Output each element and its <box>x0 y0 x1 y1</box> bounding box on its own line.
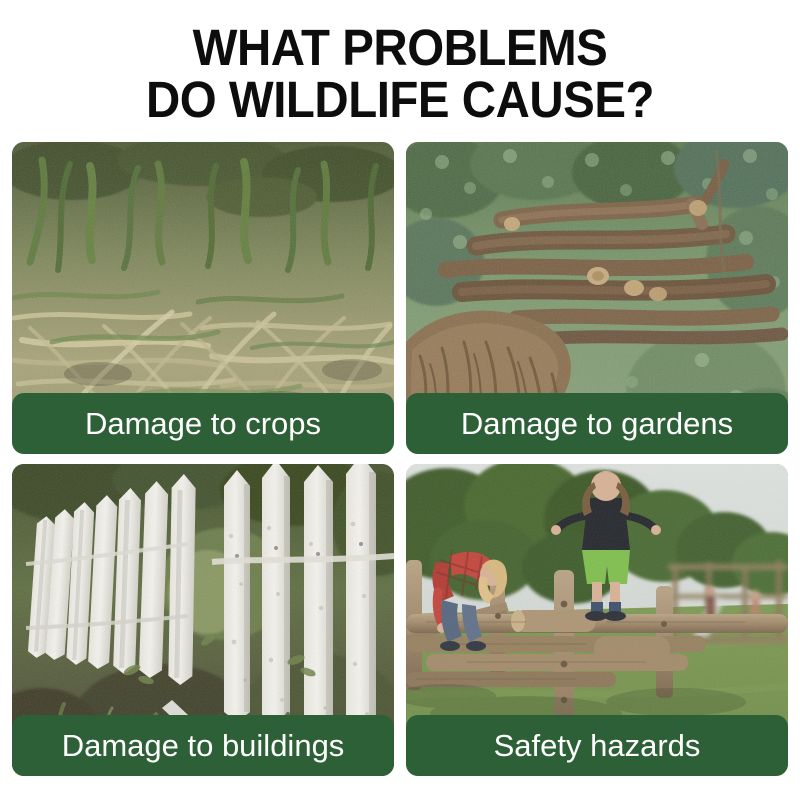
caption-label-gardens: Damage to gardens <box>461 408 733 439</box>
caption-bar-safety: Safety hazards <box>406 715 788 776</box>
caption-label-crops: Damage to crops <box>85 408 321 439</box>
panel-gardens[interactable]: Damage to gardens <box>406 142 788 454</box>
caption-label-safety: Safety hazards <box>494 730 701 761</box>
caption-bar-gardens: Damage to gardens <box>406 393 788 454</box>
panel-safety[interactable]: Safety hazards <box>406 464 788 776</box>
caption-label-buildings: Damage to buildings <box>62 730 345 761</box>
infographic-page: WHAT PROBLEMS DO WILDLIFE CAUSE? <box>0 0 800 800</box>
caption-bar-buildings: Damage to buildings <box>12 715 394 776</box>
problem-panel-grid: Damage to crops <box>12 142 788 776</box>
page-title: WHAT PROBLEMS DO WILDLIFE CAUSE? <box>0 22 800 126</box>
page-title-line-1: WHAT PROBLEMS <box>28 22 772 74</box>
page-title-line-2: DO WILDLIFE CAUSE? <box>28 74 772 126</box>
caption-bar-crops: Damage to crops <box>12 393 394 454</box>
panel-crops[interactable]: Damage to crops <box>12 142 394 454</box>
panel-buildings[interactable]: Damage to buildings <box>12 464 394 776</box>
